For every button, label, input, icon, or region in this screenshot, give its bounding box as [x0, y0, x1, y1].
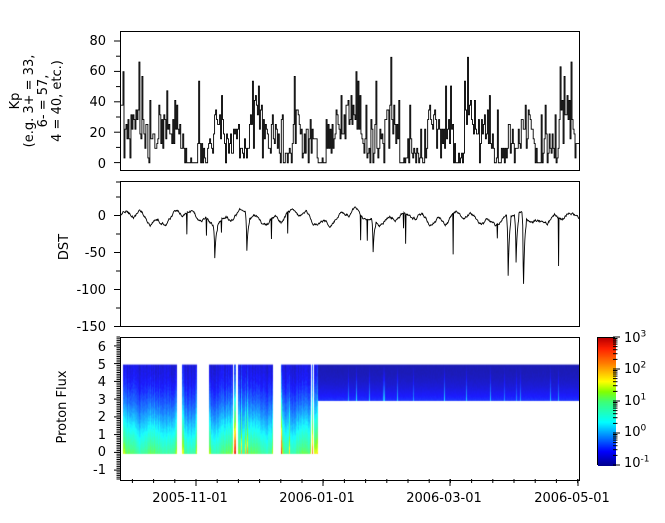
pf-ytick-6: 6	[74, 340, 106, 355]
pf-ytick-3: 3	[74, 393, 106, 408]
dst-ytick-m50: -50	[42, 246, 106, 261]
dst-series	[121, 182, 579, 326]
dst-ytick-m100: -100	[42, 283, 106, 298]
pf-ytick-m1: -1	[74, 463, 106, 478]
pf-ytick-4: 4	[74, 375, 106, 390]
dst-ytick-0: 0	[42, 209, 106, 224]
xtick-2006-05-01: 2006-05-01	[530, 491, 614, 506]
pf-ytick-0: 0	[74, 445, 106, 460]
proton-flux-spectrogram	[121, 338, 579, 480]
kp-ytick-40: 40	[78, 95, 106, 110]
kp-panel	[120, 31, 580, 171]
xtick-2006-01-01: 2006-01-01	[275, 491, 359, 506]
pf-ytick-2: 2	[74, 410, 106, 425]
colorbar-label-1e3: 103	[624, 331, 646, 346]
dst-panel	[120, 181, 580, 327]
xtick-2006-03-01: 2006-03-01	[402, 491, 486, 506]
colorbar-label-1e1: 101	[624, 394, 646, 409]
kp-ytick-80: 80	[78, 34, 106, 49]
colorbar-label-1em1: 10-1	[624, 456, 650, 471]
kp-ytick-0: 0	[78, 157, 106, 172]
protonflux-y-axis-label: Proton Flux	[56, 337, 70, 477]
xtick-2005-11-01: 2005-11-01	[148, 491, 232, 506]
proton-flux-axis-ticks	[106, 332, 126, 488]
kp-series	[121, 32, 579, 170]
dst-axis-ticks	[106, 176, 126, 334]
pf-ytick-1: 1	[74, 428, 106, 443]
colorbar-label-1e0: 100	[624, 425, 646, 440]
colorbar-label-1e2: 102	[624, 362, 646, 377]
kp-axis-ticks	[106, 25, 126, 179]
kp-ytick-60: 60	[78, 64, 106, 79]
dst-ytick-m150: -150	[42, 320, 106, 335]
figure-canvas: Kp (e.g. 3+ = 33, 6- = 57, 4 = 40, etc.)…	[0, 0, 665, 523]
pf-ytick-5: 5	[74, 358, 106, 373]
proton-flux-panel	[120, 337, 580, 481]
kp-ytick-20: 20	[78, 126, 106, 141]
kp-y-axis-label: Kp (e.g. 3+ = 33, 6- = 57, 4 = 40, etc.)	[9, 31, 65, 171]
